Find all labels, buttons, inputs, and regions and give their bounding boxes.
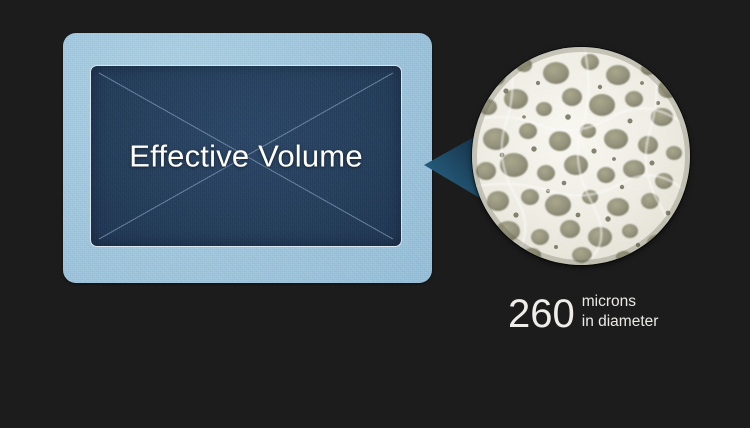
page-title: Effective Volume	[91, 141, 401, 172]
caption-unit-block: microns in diameter	[582, 292, 659, 331]
caption-unit-line-2: in diameter	[582, 312, 659, 332]
micrograph-texture	[472, 47, 690, 265]
measurement-caption: 260 microns in diameter	[508, 292, 658, 332]
caption-unit-line-1: microns	[582, 292, 659, 312]
effective-volume-frame: Effective Volume	[63, 33, 432, 283]
diagram-canvas: Effective Volume	[0, 0, 750, 428]
effective-volume-panel: Effective Volume	[90, 65, 402, 247]
porous-material-micrograph	[472, 47, 690, 265]
caption-number: 260	[508, 294, 575, 334]
